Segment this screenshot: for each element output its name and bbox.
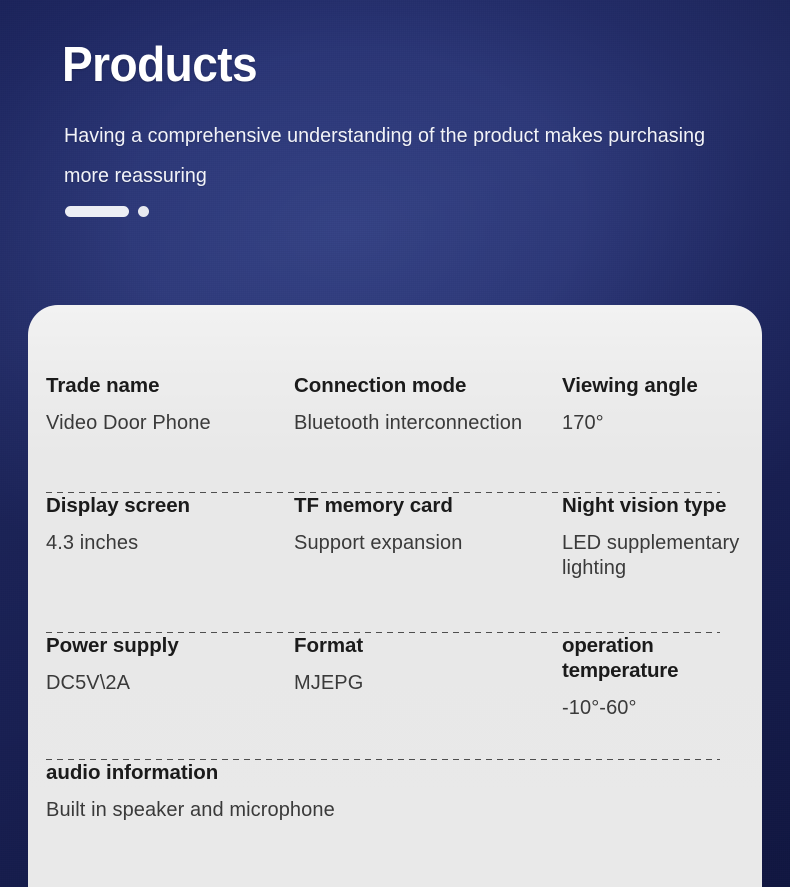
- spec-cell-audio-information: audio information Built in speaker and m…: [37, 760, 737, 823]
- spec-label: Viewing angle: [562, 373, 762, 398]
- spec-value: Support expansion: [294, 531, 562, 556]
- spec-label: TF memory card: [294, 493, 562, 518]
- table-row: Trade name Video Door Phone Connection m…: [37, 373, 734, 492]
- spec-label: Trade name: [46, 373, 294, 398]
- spec-cell-connection-mode: Connection mode Bluetooth interconnectio…: [294, 373, 562, 436]
- spec-value: MJEPG: [294, 671, 562, 696]
- specifications-table: Trade name Video Door Phone Connection m…: [28, 305, 762, 860]
- table-row: Display screen 4.3 inches TF memory card…: [37, 493, 734, 632]
- page-title: Products: [62, 39, 257, 93]
- spec-cell-viewing-angle: Viewing angle 170°: [562, 373, 762, 436]
- spec-label: Power supply: [46, 633, 294, 658]
- table-row: audio information Built in speaker and m…: [37, 760, 734, 860]
- table-row: Power supply DC5V\2A Format MJEPG operat…: [37, 633, 734, 759]
- spec-value: Bluetooth interconnection: [294, 411, 562, 436]
- spec-label: audio information: [46, 760, 737, 785]
- spec-cell-operation-temperature: operation temperature -10°-60°: [562, 633, 762, 721]
- spec-value: 4.3 inches: [46, 531, 294, 556]
- specifications-card: Trade name Video Door Phone Connection m…: [28, 305, 762, 887]
- spec-value: Video Door Phone: [46, 411, 294, 436]
- spec-value: DC5V\2A: [46, 671, 294, 696]
- pagination-indicator-inactive[interactable]: [138, 206, 149, 217]
- spec-cell-night-vision-type: Night vision type LED supplementary ligh…: [562, 493, 762, 581]
- spec-value: -10°-60°: [562, 696, 762, 721]
- spec-cell-power-supply: Power supply DC5V\2A: [37, 633, 294, 696]
- spec-label: Night vision type: [562, 493, 762, 518]
- spec-label: Connection mode: [294, 373, 562, 398]
- spec-value: Built in speaker and microphone: [46, 798, 737, 823]
- pagination-indicator-active[interactable]: [65, 206, 129, 217]
- spec-cell-trade-name: Trade name Video Door Phone: [37, 373, 294, 436]
- spec-label: operation temperature: [562, 633, 762, 683]
- spec-value: LED supplementary lighting: [562, 531, 762, 581]
- spec-label: Display screen: [46, 493, 294, 518]
- spec-cell-format: Format MJEPG: [294, 633, 562, 696]
- spec-label: Format: [294, 633, 562, 658]
- page-subtitle: Having a comprehensive understanding of …: [64, 116, 726, 196]
- spec-value: 170°: [562, 411, 762, 436]
- carousel-pagination[interactable]: [65, 206, 149, 217]
- spec-cell-tf-memory-card: TF memory card Support expansion: [294, 493, 562, 556]
- spec-cell-display-screen: Display screen 4.3 inches: [37, 493, 294, 556]
